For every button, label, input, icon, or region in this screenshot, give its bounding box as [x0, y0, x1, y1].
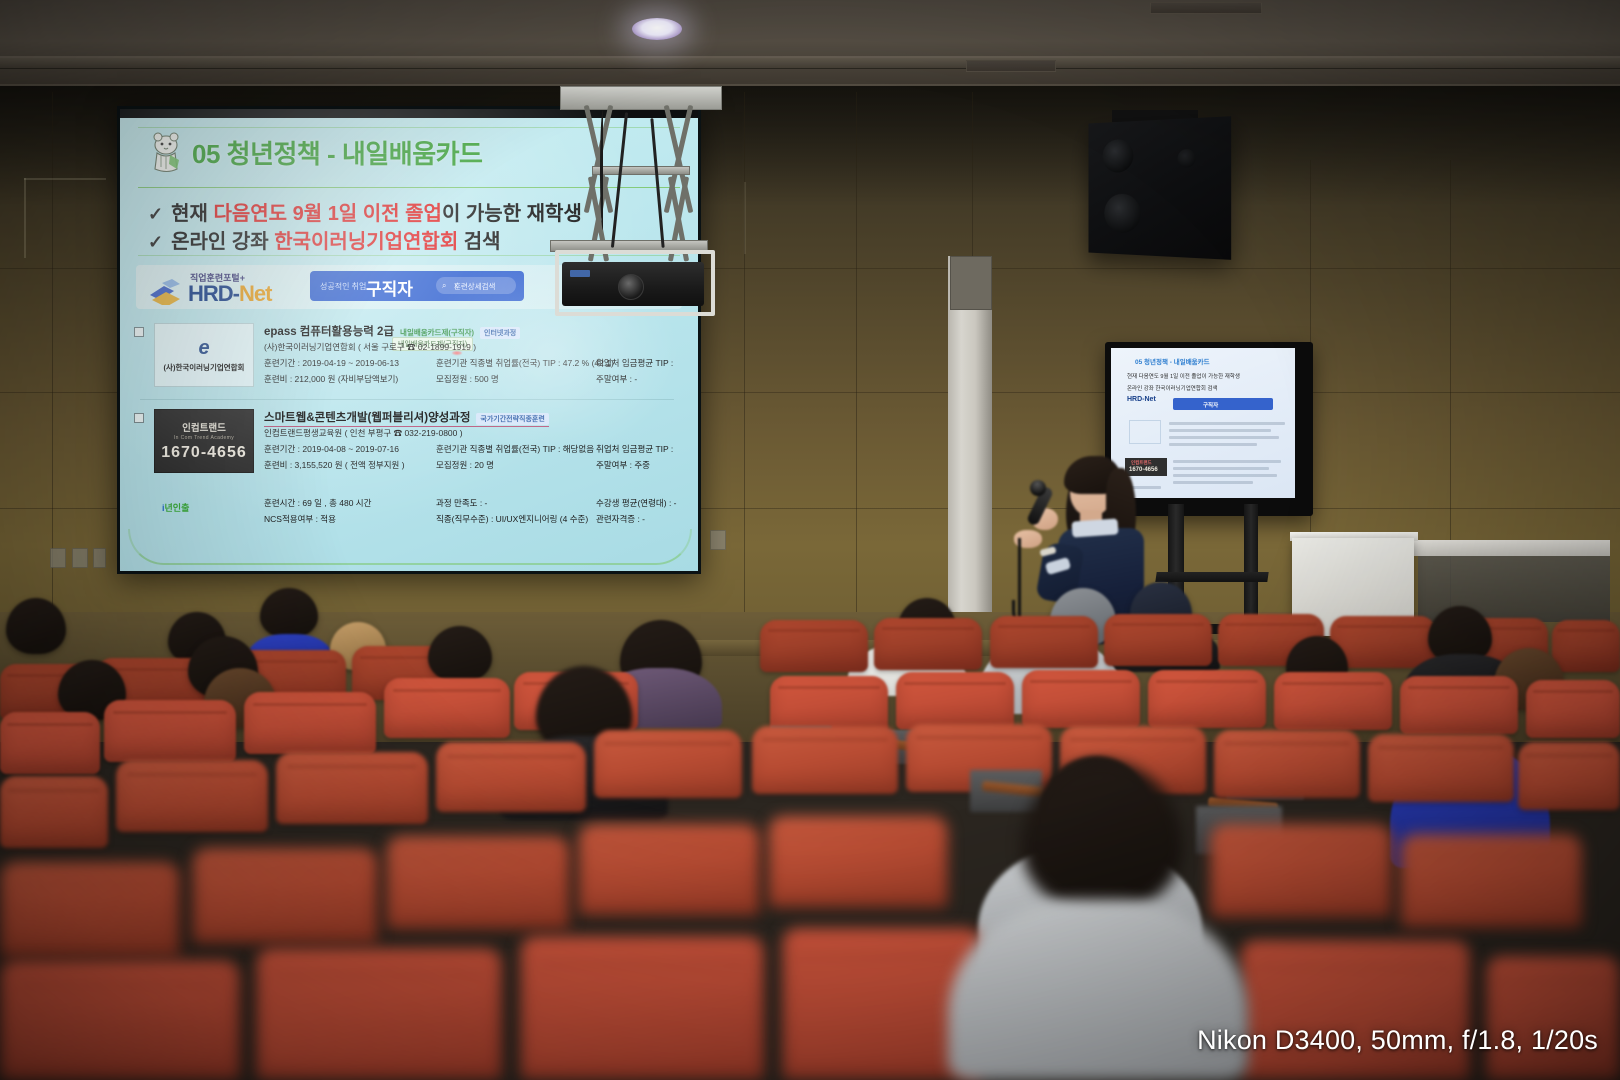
- seat[interactable]: [1210, 824, 1392, 918]
- slide-title: 05 청년정책 - 내일배움카드: [192, 134, 482, 171]
- course-listing-1[interactable]: e (사)한국이러닝기업연합회 epass 컴퓨터활용능력 2급내일배움카드제(…: [134, 323, 686, 389]
- check-icon: ✓: [148, 232, 163, 252]
- tv-stand-leg: [1244, 504, 1258, 630]
- course-1-weekend: 주말여부 : -: [596, 373, 637, 385]
- course-1-org-name: (사)한국이러닝기업연합회: [164, 362, 245, 373]
- ceiling-vent: [966, 60, 1056, 72]
- seat[interactable]: [1148, 670, 1266, 728]
- seat[interactable]: [990, 616, 1098, 668]
- course-2-satisfaction: 과정 만족도 : -: [436, 497, 487, 509]
- course-2-phone: 1670-4656: [161, 444, 247, 462]
- seat[interactable]: [0, 712, 100, 774]
- seat[interactable]: [192, 848, 378, 944]
- course-2-certs: 관련자격증 : -: [596, 513, 645, 525]
- seat[interactable]: [0, 960, 240, 1080]
- ceiling-downlight-icon: [632, 18, 682, 40]
- seat[interactable]: [276, 752, 428, 824]
- check-icon: ✓: [148, 204, 163, 224]
- wall-seam: [744, 92, 745, 612]
- wall-outlet[interactable]: [93, 548, 106, 568]
- course-2-title[interactable]: 스마트웹&콘텐츠개발(웹퍼블리셔)양성과정국가기간전략직종훈련: [264, 409, 549, 427]
- wall-switch[interactable]: [50, 548, 66, 568]
- tv-bullet-1: 현재 다음연도 9월 1일 이전 졸업이 가능한 재학생: [1127, 372, 1240, 380]
- seat[interactable]: [386, 836, 570, 930]
- bullet-2-part1: 온라인 강좌: [171, 231, 274, 253]
- seat[interactable]: [1022, 670, 1140, 728]
- seat[interactable]: [1552, 620, 1620, 672]
- ceiling: [0, 0, 1620, 92]
- course-2-ncs: NCS적용여부 : 적용: [264, 513, 336, 525]
- course-2-avg-age: 수강생 평균(연령대) : -: [596, 497, 677, 509]
- course-1-org-logo: e (사)한국이러닝기업연합회: [154, 323, 254, 387]
- pa-speaker-icon: [1088, 116, 1231, 260]
- tv-search-banner: 구직자: [1173, 398, 1273, 410]
- hrd-net-wordmark: HRD-Net: [188, 281, 271, 307]
- hrd-search-banner[interactable]: 성공적인 취업 구직자 ⌕ 훈련상세검색 ›: [310, 271, 524, 301]
- seat[interactable]: [1518, 742, 1620, 810]
- seat[interactable]: [1214, 730, 1360, 798]
- course-1-quota: 모집정원 : 500 명: [436, 373, 499, 385]
- course-2-weekend: 주말여부 : 주중: [596, 459, 650, 471]
- course-1-fee: 훈련비 : 212,000 원 (자비부담액보기): [264, 373, 398, 385]
- seat[interactable]: [752, 726, 898, 794]
- search-icon: ⌕: [442, 281, 446, 291]
- seat[interactable]: [244, 692, 376, 754]
- photo-scene: 05 청년정책 - 내일배움카드 ✓현재 다음연도 9월 1일 이전 졸업이 가…: [0, 0, 1620, 1080]
- course-1-period: 훈련기간 : 2019-04-19 ~ 2019-06-13: [264, 357, 399, 369]
- bullet-2-part2: 검색: [458, 231, 500, 253]
- course-checkbox[interactable]: [134, 327, 144, 337]
- course-divider: [140, 399, 674, 400]
- banner-search-pill[interactable]: ⌕ 훈련상세검색 ›: [436, 277, 516, 294]
- seat[interactable]: [1104, 614, 1212, 666]
- wall-seam: [856, 92, 857, 612]
- projection-screen: 05 청년정책 - 내일배움카드 ✓현재 다음연도 9월 1일 이전 졸업이 가…: [117, 106, 701, 574]
- slide-bullet-1: ✓현재 다음연도 9월 1일 이전 졸업이 가능한 재학생: [148, 197, 582, 226]
- seat[interactable]: [594, 730, 742, 798]
- course-1-org-line: (사)한국이러닝기업연합회 ( 서울 구로구 ☎ 02-1899-1919 ): [264, 341, 476, 353]
- bullet-2-highlight: 한국이러닝기업연합회: [274, 231, 458, 253]
- audience-head: [428, 626, 492, 682]
- course-2-brand: 인컴트랜드: [182, 420, 226, 434]
- column-cap: [950, 256, 992, 310]
- bullet-1-part2: 이 가능한 재학생: [442, 203, 582, 225]
- course-2-brand-sub: In Com Trend Academy: [174, 435, 234, 441]
- tv-stand-shelf: [1155, 572, 1268, 582]
- bullet-1-part1: 현재: [171, 203, 213, 225]
- course-2-period: 훈련기간 : 2019-04-08 ~ 2019-07-16: [264, 443, 399, 455]
- course-checkbox[interactable]: [134, 413, 144, 423]
- audience-head: [6, 598, 66, 654]
- projector-cable: [600, 110, 606, 230]
- course-2-tag-blue: 국가기간전략직종훈련: [476, 413, 548, 425]
- course-1-tag-blue: 인터넷과정: [480, 327, 520, 339]
- seat[interactable]: [578, 824, 760, 916]
- course-2-job-type: 직종(직무수준) : UI/UX엔지니어링 (4 수준): [436, 513, 588, 525]
- ceiling-vent: [1150, 2, 1262, 14]
- wall-switch[interactable]: [72, 548, 88, 568]
- seat[interactable]: [436, 742, 586, 812]
- seat[interactable]: [768, 816, 948, 908]
- tv-banner-text: 구직자: [1203, 401, 1218, 409]
- seat[interactable]: [384, 678, 510, 738]
- slide-divider: [138, 187, 680, 188]
- chevron-right-icon: ›: [454, 280, 530, 291]
- seat[interactable]: [1400, 676, 1518, 734]
- seat[interactable]: [0, 862, 180, 958]
- projector-frame: [555, 250, 715, 316]
- wall-mark: [24, 178, 26, 258]
- presenter-collar: [1071, 518, 1118, 537]
- camera-info-caption: Nikon D3400, 50mm, f/1.8, 1/20s: [1197, 1025, 1598, 1056]
- seat[interactable]: [116, 760, 268, 832]
- seat[interactable]: [1274, 672, 1392, 730]
- course-listing-2[interactable]: 인컴트랜드 In Com Trend Academy 1670-4656 스마트…: [134, 409, 686, 537]
- seat[interactable]: [896, 672, 1014, 730]
- seat[interactable]: [1526, 680, 1620, 738]
- seat[interactable]: [0, 776, 108, 848]
- seat[interactable]: [1240, 940, 1470, 1080]
- wall-outlet[interactable]: [710, 530, 726, 550]
- ceiling-beam: [0, 58, 1620, 69]
- course-2-hours: 훈련시간 : 69 일 , 총 480 시간: [264, 497, 371, 509]
- course-2-quota: 모집정원 : 20 명: [436, 459, 494, 471]
- course-2-org-line: 인컴트랜드평생교육원 ( 인천 부평구 ☎ 032-219-0800 ): [264, 427, 463, 439]
- counter-top: [1414, 540, 1610, 556]
- seat[interactable]: [1486, 956, 1620, 1080]
- slide-divider: [138, 127, 680, 128]
- course-1-employment-rate: 훈련기관 직종별 취업률(전국) TIP : 47.2 % (42.1): [436, 357, 614, 369]
- tv-hrd-logo: HRD-Net: [1127, 396, 1156, 403]
- slide-content: 05 청년정책 - 내일배움카드 ✓현재 다음연도 9월 1일 이전 졸업이 가…: [120, 109, 698, 571]
- seat[interactable]: [1400, 834, 1582, 928]
- slide-bottom-accent: [128, 529, 692, 565]
- seat[interactable]: [104, 700, 236, 762]
- course-2-fee: 훈련비 : 3,155,520 원 ( 전액 정부지원 ): [264, 459, 405, 471]
- course-2-wage: 취업처 임금평균 TIP :: [596, 443, 673, 455]
- course-2-employment-rate: 훈련기관 직종별 취업률(전국) TIP : 해당없음: [436, 443, 594, 455]
- banner-big-text: 구직자: [366, 275, 413, 300]
- seat[interactable]: [1368, 734, 1514, 802]
- tv-course-1-logo: [1129, 420, 1161, 444]
- seat[interactable]: [256, 948, 502, 1080]
- seat[interactable]: [760, 620, 868, 672]
- tv-slide-title: 05 청년정책 - 내일배움카드: [1135, 356, 1210, 366]
- slide-bullet-2: ✓온라인 강좌 한국이러닝기업연합회 검색: [148, 225, 501, 254]
- lift-crossbar: [592, 166, 690, 175]
- e-logo-icon: e: [198, 338, 209, 358]
- hrd-net-logo-icon: [148, 277, 184, 305]
- course-2-org-logo: 인컴트랜드 In Com Trend Academy 1670-4656: [154, 409, 254, 473]
- footer-brand: i년인출: [162, 501, 189, 514]
- wall-mark: [24, 178, 106, 180]
- tv-bullet-2: 온라인 강좌 한국이러닝기업연합회 검색: [1127, 384, 1218, 392]
- wall-mark: [744, 182, 746, 254]
- bullet-1-highlight: 다음연도 9월 1일 이전 졸업: [213, 203, 441, 225]
- seat[interactable]: [520, 936, 764, 1080]
- wall-seam: [52, 92, 53, 612]
- course-1-wage: 취업처 임금평균 TIP :: [596, 357, 673, 369]
- audience-head: [260, 588, 318, 638]
- seat[interactable]: [874, 618, 982, 670]
- banner-small-text: 성공적인 취업: [320, 281, 366, 292]
- tiger-mascot-icon: [144, 131, 190, 177]
